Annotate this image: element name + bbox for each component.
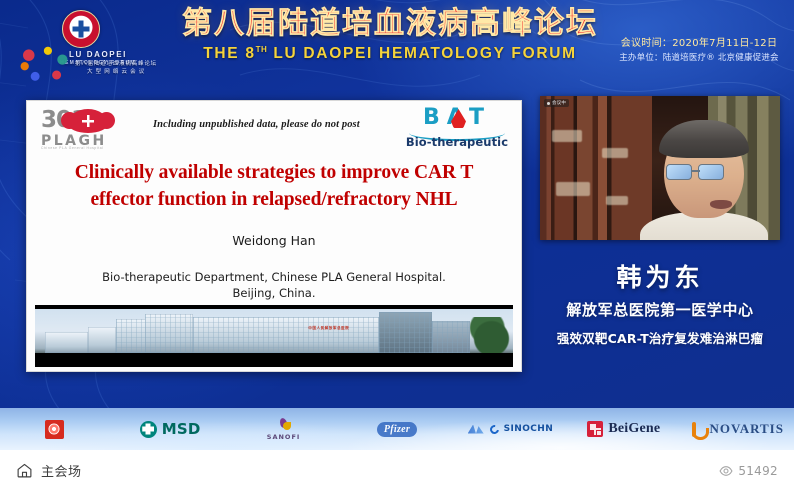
slide-affiliation-line1: Bio-therapeutic Department, Chinese PLA … (27, 269, 521, 285)
event-header-banner: LU DAOPEI HEMATOLOGY FORUM 第八届陆道培血液病高峰论坛… (0, 0, 794, 88)
sponsor-logo-sinochn[interactable]: SINOCHN (454, 408, 567, 450)
slide-author: Weidong Han (27, 233, 521, 248)
conference-stage: LU DAOPEI HEMATOLOGY FORUM 第八届陆道培血液病高峰论坛… (0, 0, 794, 450)
room-selector[interactable]: 主会场 (16, 461, 82, 480)
event-title-en-post: LU DAOPEI HEMATOLOGY FORUM (267, 45, 576, 62)
speaker-video-feed[interactable]: 会议中 (540, 96, 780, 240)
live-stream-page: LU DAOPEI HEMATOLOGY FORUM 第八届陆道培血液病高峰论坛… (0, 0, 794, 491)
speaker-figure (646, 120, 762, 240)
speaker-glasses-left (666, 164, 692, 180)
video-bg-cabinet (540, 96, 652, 240)
viewer-count: 51492 (738, 464, 778, 478)
plagh-logo: 301 PLAGH Chinese PLA General Hospital (41, 107, 135, 151)
eye-icon (719, 464, 733, 478)
presentation-slide[interactable]: 301 PLAGH Chinese PLA General Hospital I… (26, 100, 522, 372)
plagh-301-number: 301 (41, 107, 135, 135)
speaker-glasses-bridge (692, 170, 700, 172)
sponsor-label-6: NOVARTIS (709, 421, 784, 437)
viewer-count-group: 51492 (719, 464, 778, 478)
red-square-logo-icon (45, 420, 64, 439)
sponsor-logo-pfizer[interactable]: Pfizer (340, 408, 453, 450)
room-label: 主会场 (41, 461, 82, 480)
sponsor-logo-sanofi[interactable]: SANOFI (227, 408, 340, 450)
event-title-en-sup: TH (256, 45, 268, 54)
event-title-block: 第八届陆道培血液病高峰论坛 THE 8TH LU DAOPEI HEMATOLO… (150, 6, 630, 63)
speaker-mouth (710, 200, 732, 209)
video-status-label: 会议中 (552, 100, 566, 106)
plagh-tagline: Chinese PLA General Hospital (41, 146, 135, 150)
sponsor-label-2: SANOFI (267, 433, 301, 441)
sponsor-strip: MSD SANOFI Pfizer SINOCHN BeiGene NOVART… (0, 408, 794, 450)
hospital-building-photo: 中国人民解放军总医院 (35, 305, 513, 367)
bat-wordmark: Bio-therapeutic (403, 135, 511, 149)
people-circle-icon (16, 42, 74, 86)
event-subbrand-line2: 大 型 网 络 云 会 议 (72, 68, 160, 76)
slide-title: Clinically available strategies to impro… (45, 159, 503, 213)
speaker-affiliation: 解放军总医院第一医学中心 (534, 299, 786, 320)
bottom-toolbar: 主会场 51492 (0, 450, 794, 491)
slide-header-row: 301 PLAGH Chinese PLA General Hospital I… (27, 101, 521, 153)
sponsor-label-4: SINOCHN (504, 424, 553, 434)
event-meta-block: 会议时间：2020年7月11日-12日 主办单位：陆道培医疗® 北京健康促进会 (614, 36, 784, 66)
event-title-cn: 第八届陆道培血液病高峰论坛 (150, 6, 630, 42)
home-icon (16, 462, 33, 479)
event-logo-group: LU DAOPEI HEMATOLOGY FORUM 第八届陆道培血液病高峰论坛… (14, 8, 154, 86)
status-dot-icon (547, 102, 550, 105)
sponsor-logo-red-square[interactable] (0, 408, 113, 450)
sponsor-logo-beigene[interactable]: BeiGene (567, 408, 680, 450)
slide-disclaimer: Including unpublished data, please do no… (153, 119, 360, 130)
event-organizer: 主办单位：陆道培医疗® 北京健康促进会 (614, 51, 784, 66)
sponsor-label-1: MSD (162, 420, 201, 438)
sponsor-logo-novartis[interactable]: NOVARTIS (681, 408, 794, 450)
event-title-en: THE 8TH LU DAOPEI HEMATOLOGY FORUM (150, 45, 630, 63)
sinochn-ring-icon (488, 423, 501, 436)
event-subbrand-cn: 第八届陆道培血液病高峰论坛 大 型 网 络 云 会 议 (72, 60, 160, 76)
sponsor-label-5: BeiGene (608, 421, 660, 437)
speaker-name: 韩为东 (534, 258, 786, 294)
sanofi-logo-icon (276, 418, 291, 433)
speaker-topic: 强效双靶CAR-T治疗复发难治淋巴瘤 (534, 328, 786, 347)
sponsor-label-3: Pfizer (377, 422, 417, 437)
video-status-badge: 会议中 (544, 99, 569, 107)
novartis-logo-icon (690, 422, 704, 437)
speaker-hair (659, 120, 749, 158)
building-sign: 中国人民解放军总医院 (308, 326, 349, 331)
speaker-glasses-right (698, 164, 724, 180)
event-title-en-pre: THE 8 (203, 45, 255, 62)
slide-affiliation: Bio-therapeutic Department, Chinese PLA … (27, 269, 521, 301)
plagh-star-icon (82, 115, 94, 127)
msd-logo-icon (140, 421, 157, 438)
lu-daopei-emblem-icon (62, 10, 100, 48)
sinochn-mark-icon (468, 423, 485, 436)
event-subbrand-line1: 第八届陆道培血液病高峰论坛 (72, 60, 160, 68)
sponsor-logo-msd[interactable]: MSD (113, 408, 226, 450)
speaker-panel: 会议中 韩为东 解放军总医院第一医学中心 强效双靶CAR-T治疗复发难治淋巴瘤 (534, 96, 786, 372)
slide-affiliation-line2: Beijing, China. (27, 285, 521, 301)
beigene-logo-icon (587, 421, 603, 437)
bat-logo: BAT Bio-therapeutic (403, 105, 511, 151)
event-datetime: 会议时间：2020年7月11日-12日 (614, 36, 784, 51)
